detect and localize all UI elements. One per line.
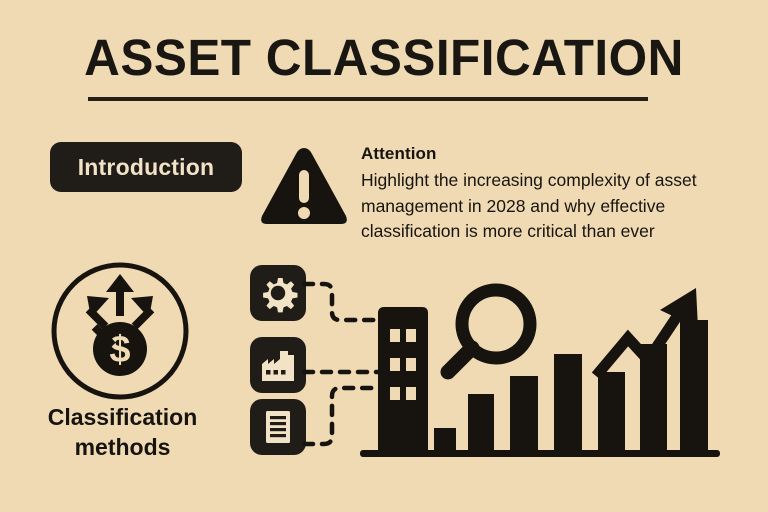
method-tile-document[interactable] bbox=[250, 399, 306, 455]
chart-bar bbox=[510, 376, 538, 450]
attention-block: Attention Highlight the increasing compl… bbox=[361, 144, 709, 245]
dollar-arrows-circle-icon: $ bbox=[49, 260, 191, 402]
office-building-icon bbox=[378, 307, 428, 450]
method-tile-gear[interactable] bbox=[250, 265, 306, 321]
caption-line-2: methods bbox=[20, 432, 225, 462]
attention-heading: Attention bbox=[361, 144, 709, 164]
chart-bar bbox=[680, 320, 708, 450]
gear-icon bbox=[250, 265, 306, 321]
chart-bar bbox=[554, 354, 582, 450]
method-tile-factory[interactable] bbox=[250, 337, 306, 393]
chart-bar bbox=[468, 394, 494, 450]
magnifying-glass-icon bbox=[448, 290, 530, 372]
introduction-badge[interactable]: Introduction bbox=[50, 142, 242, 192]
page-title: ASSET CLASSIFICATION bbox=[12, 32, 757, 83]
factory-icon bbox=[250, 337, 306, 393]
attention-body-text: Highlight the increasing complexity of a… bbox=[361, 168, 709, 245]
svg-text:$: $ bbox=[109, 329, 130, 371]
chart-baseline bbox=[360, 450, 720, 457]
document-icon bbox=[250, 399, 306, 455]
infographic-canvas: ASSET CLASSIFICATION Introduction $ bbox=[0, 0, 768, 512]
caption-line-1: Classification bbox=[20, 402, 225, 432]
chart-bar bbox=[598, 372, 625, 450]
title-underline-divider bbox=[88, 97, 648, 101]
warning-triangle-icon bbox=[258, 142, 350, 234]
classification-methods-caption: Classification methods bbox=[20, 402, 225, 463]
introduction-badge-label: Introduction bbox=[78, 154, 215, 181]
bar-chart-illustration bbox=[360, 276, 720, 462]
chart-bar bbox=[434, 428, 456, 450]
